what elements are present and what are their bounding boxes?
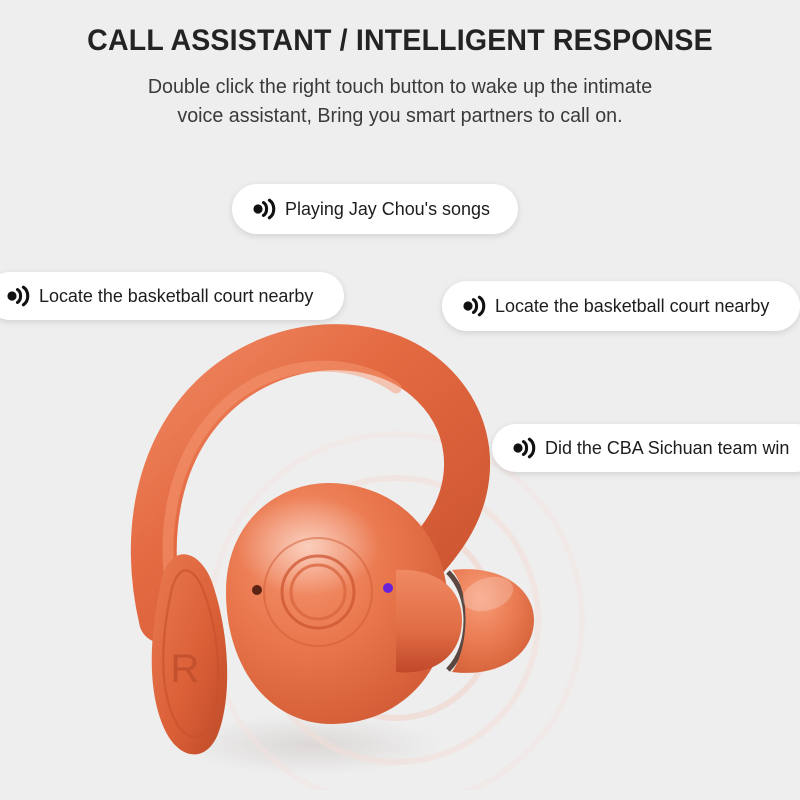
voice-command-bubble-cba[interactable]: Did the CBA Sichuan team win — [492, 424, 800, 472]
sound-wave-icon — [6, 285, 32, 307]
ear-tip-stem — [396, 570, 462, 673]
voice-command-text: Playing Jay Chou's songs — [285, 200, 490, 219]
page-title: CALL ASSISTANT / INTELLIGENT RESPONSE — [20, 0, 780, 58]
earbud-illustration: R — [96, 320, 656, 790]
voice-command-bubble-locate-right[interactable]: Locate the basketball court nearby — [442, 281, 800, 331]
page-subtitle-line-1: Double click the right touch button to w… — [16, 72, 784, 101]
page-subtitle-line-2: voice assistant, Bring you smart partner… — [16, 101, 784, 130]
earbud-body-gloss — [236, 496, 380, 596]
sound-wave-icon — [512, 437, 538, 459]
voice-command-text: Locate the basketball court nearby — [495, 297, 769, 316]
header: CALL ASSISTANT / INTELLIGENT RESPONSE Do… — [0, 0, 800, 130]
voice-command-bubble-playing[interactable]: Playing Jay Chou's songs — [232, 184, 518, 234]
voice-command-text: Did the CBA Sichuan team win — [545, 439, 789, 458]
product-feature-banner: CALL ASSISTANT / INTELLIGENT RESPONSE Do… — [0, 0, 800, 800]
microphone-hole — [252, 585, 262, 595]
side-marking-R: R — [171, 647, 200, 691]
sound-wave-icon — [462, 295, 488, 317]
sound-wave-icon — [252, 198, 278, 220]
status-led — [383, 583, 393, 593]
voice-command-bubble-locate-left[interactable]: Locate the basketball court nearby — [0, 272, 344, 320]
page-subtitle: Double click the right touch button to w… — [16, 58, 784, 130]
voice-command-text: Locate the basketball court nearby — [39, 287, 313, 306]
